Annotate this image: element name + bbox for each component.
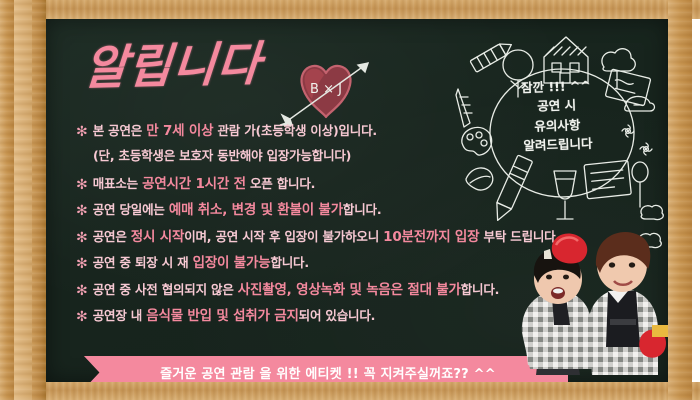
notice-plain: 공연은 xyxy=(93,229,131,244)
notice-text: 공연 중 사전 협의되지 않은 사진촬영, 영상녹화 및 녹음은 절대 불가합니… xyxy=(93,282,499,299)
notice-highlight: 10분전까지 입장 xyxy=(383,229,479,245)
notice-plain: 본 공연은 xyxy=(93,123,147,138)
notice-text: 본 공연은 만 7세 이상 관람 가(초등학생 이상)입니다. xyxy=(93,123,377,140)
notice-plain: 이며, 공연 시작 후 입장이 불가하오니 xyxy=(184,229,383,244)
asterisk-icon: ✻ xyxy=(76,203,88,221)
asterisk-icon: ✻ xyxy=(76,230,88,248)
heart-initials: B × J xyxy=(310,82,342,97)
etiquette-ribbon-shape: 즐거운 공연 관람 을 위한 에티켓 !! 꼭 지켜주실꺼죠?? ^^ xyxy=(84,356,568,382)
notice-plain: 합니다. xyxy=(343,202,381,217)
notice-text: 공연은 정시 시작이며, 공연 시작 후 입장이 불가하오니 10분전까지 입장… xyxy=(93,229,560,246)
notice-plain: 공연장 내 xyxy=(93,308,147,323)
performer-left xyxy=(522,233,592,375)
notice-highlight: 예매 취소, 변경 및 환불이 불가 xyxy=(169,202,343,218)
asterisk-icon: ✻ xyxy=(76,177,88,195)
notice-highlight: 음식물 반입 및 섭취가 금지 xyxy=(146,308,298,324)
asterisk-icon: ✻ xyxy=(76,256,88,274)
wood-frame-bottom xyxy=(0,382,700,400)
wood-frame-left-middle xyxy=(14,0,32,400)
etiquette-ribbon: 즐거운 공연 관람 을 위한 에티켓 !! 꼭 지켜주실꺼죠?? ^^ xyxy=(84,356,568,382)
notice-text: 공연장 내 음식물 반입 및 섭취가 금지되어 있습니다. xyxy=(93,308,375,325)
asterisk-icon: ✻ xyxy=(76,283,88,301)
notice-subtext: (단, 초등학생은 보호자 동반해야 입장가능합니다) xyxy=(76,145,596,164)
notice-highlight: 사진촬영, 영상녹화 및 녹음은 절대 불가 xyxy=(238,282,461,298)
notice-plain: 공연 중 퇴장 시 재 xyxy=(93,255,193,270)
performers-photo xyxy=(508,207,668,382)
notice-highlight: 입장이 불가능 xyxy=(193,255,271,271)
page-title: 알립니다 xyxy=(82,41,263,93)
notice-plain: 매표소는 xyxy=(93,176,142,191)
wood-frame-left-inner xyxy=(32,0,46,400)
notice-plain: 관람 가(초등학생 이상)입니다. xyxy=(213,123,377,138)
notice-plain: 합니다. xyxy=(270,255,308,270)
notice-plain: 공연 당일에는 xyxy=(93,202,169,217)
notice-plain: 공연 중 사전 협의되지 않은 xyxy=(93,282,238,297)
notice-highlight: 공연시간 1시간 전 xyxy=(142,176,246,192)
wood-frame-right xyxy=(668,0,692,400)
wood-frame-left-outer xyxy=(0,0,14,400)
notice-poster: 알립니다 B × J xyxy=(0,0,700,400)
notice-highlight: 만 7세 이상 xyxy=(146,123,213,139)
notice-plain: 되어 있습니다. xyxy=(299,308,376,323)
heart-arrow-logo: B × J xyxy=(272,45,392,135)
asterisk-icon: ✻ xyxy=(76,124,88,142)
notice-plain: 합니다. xyxy=(461,282,499,297)
notice-item: ✻매표소는 공연시간 1시간 전 오픈 합니다. xyxy=(76,176,596,194)
notice-text: 매표소는 공연시간 1시간 전 오픈 합니다. xyxy=(93,176,315,193)
asterisk-icon: ✻ xyxy=(76,309,88,327)
chalkboard-surface: 알립니다 B × J xyxy=(46,19,668,382)
performer-right xyxy=(588,232,668,375)
notice-text: 공연 중 퇴장 시 재 입장이 불가능합니다. xyxy=(93,255,309,272)
notice-text: 공연 당일에는 예매 취소, 변경 및 환불이 불가합니다. xyxy=(93,202,382,219)
etiquette-ribbon-text: 즐거운 공연 관람 을 위한 에티켓 !! 꼭 지켜주실꺼죠?? ^^ xyxy=(160,363,496,382)
notice-highlight: 정시 시작 xyxy=(131,229,184,245)
notice-plain: 오픈 합니다. xyxy=(246,176,315,191)
notice-item: ✻본 공연은 만 7세 이상 관람 가(초등학생 이상)입니다. xyxy=(76,123,596,141)
wood-frame-top xyxy=(0,0,700,19)
